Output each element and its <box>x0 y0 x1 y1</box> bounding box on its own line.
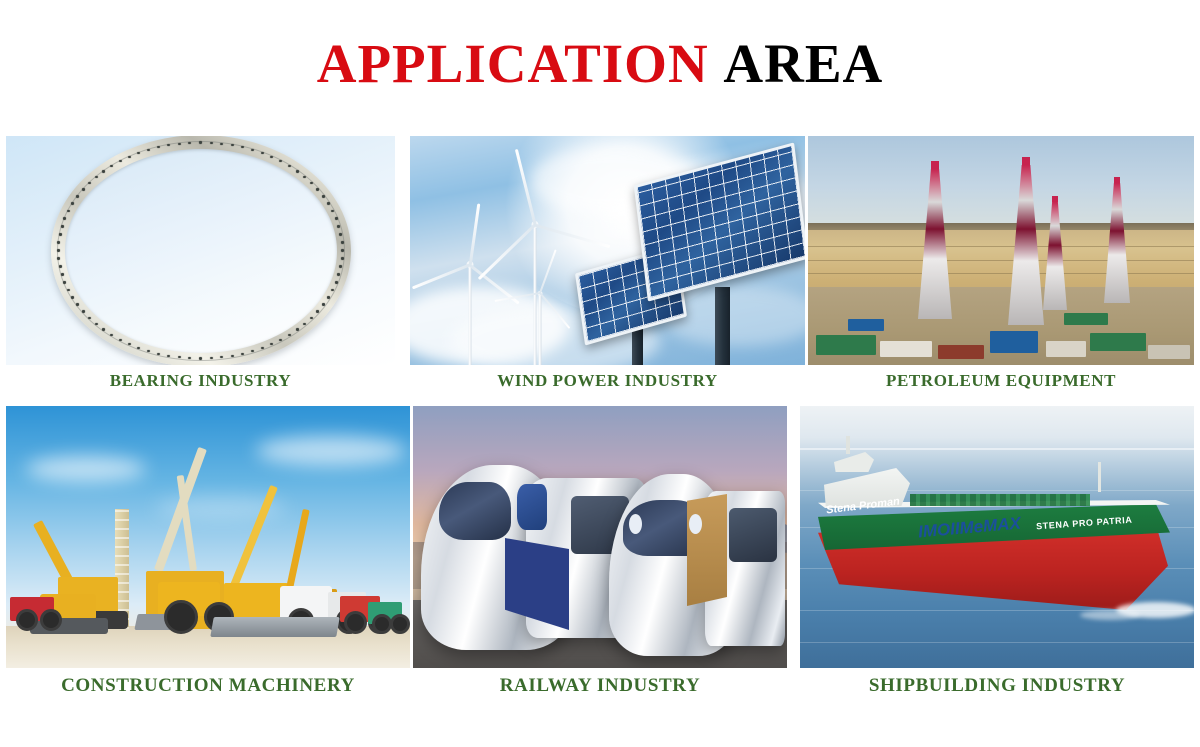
caption-shipbuilding-industry: SHIPBUILDING INDUSTRY <box>800 675 1194 697</box>
bearing-bolt-hole <box>71 202 74 204</box>
bearing-bolt-hole <box>335 217 338 219</box>
ship-deck-piping <box>910 494 1090 506</box>
green-machine <box>366 588 410 634</box>
application-area-page: APPLICATION AREA BEARING INDUSTRY <box>0 0 1200 747</box>
bearing-bolt-hole <box>335 281 338 283</box>
caption-construction-machinery: CONSTRUCTION MACHINERY <box>6 675 410 697</box>
bearing-bolt-hole <box>199 141 202 143</box>
wind-power-image <box>410 136 805 365</box>
dump-truck <box>6 583 76 631</box>
tile-wind-power-industry[interactable] <box>410 136 805 365</box>
bearing-bolt-hole <box>76 303 79 305</box>
site-container <box>880 341 932 357</box>
site-container <box>1148 345 1190 359</box>
high-speed-train-left <box>421 450 636 650</box>
bearing-bolt-hole <box>82 310 85 312</box>
wind-turbine <box>505 245 575 365</box>
tile-construction-machinery[interactable] <box>6 406 410 668</box>
bearing-bolt-hole <box>288 165 291 167</box>
railway-image <box>413 406 787 668</box>
bearing-ring-inner <box>65 149 337 353</box>
drilling-derrick <box>1043 202 1067 310</box>
bearing-bolt-hole <box>322 195 325 197</box>
bearing-bolt-hole <box>63 281 66 283</box>
bearing-bolt-hole <box>220 143 223 145</box>
bearing-bolt-hole <box>241 353 244 355</box>
site-container <box>1064 313 1108 325</box>
drilling-derrick <box>1104 183 1130 303</box>
bearing-bolt-hole <box>95 323 98 325</box>
bearing-bolt-hole <box>61 273 64 275</box>
bearing-bolt-hole <box>210 142 213 144</box>
tree-line <box>808 223 1194 230</box>
high-speed-train-right <box>609 460 784 656</box>
tile-bearing-industry[interactable] <box>6 136 395 365</box>
bulldozer-blade <box>212 597 342 637</box>
bearing-bolt-hole <box>82 188 85 190</box>
sky-background <box>808 136 1194 228</box>
bearing-bolt-hole <box>67 289 70 291</box>
shipbuilding-image: Stena Proman IMOIIMeMAX STENA PRO PATRIA <box>800 406 1194 668</box>
bearing-bolt-hole <box>57 249 60 251</box>
bearing-bolt-hole <box>71 296 74 298</box>
bearing-bolt-hole <box>341 241 344 243</box>
site-container <box>990 331 1038 353</box>
bearing-bolt-hole <box>341 249 344 251</box>
bearing-bolt-hole <box>251 149 254 151</box>
site-container <box>938 345 984 359</box>
page-title-red: APPLICATION <box>317 33 709 94</box>
caption-petroleum-equipment: PETROLEUM EQUIPMENT <box>808 371 1194 391</box>
bearing-bolt-hole <box>76 195 79 197</box>
site-container <box>1090 333 1146 351</box>
construction-image <box>6 406 410 668</box>
site-container <box>1046 341 1086 357</box>
bearing-bolt-hole <box>288 334 291 336</box>
ship-foremast <box>1098 462 1101 492</box>
tile-railway-industry[interactable] <box>413 406 787 668</box>
ship-mast <box>846 436 850 454</box>
bearing-bolt-hole <box>88 317 91 319</box>
bearing-bolt-hole <box>296 170 299 172</box>
caption-railway-industry: RAILWAY INDUSTRY <box>413 675 787 697</box>
bearing-image <box>6 136 395 365</box>
caption-bearing-industry: BEARING INDUSTRY <box>6 371 395 391</box>
bearing-bolt-hole <box>322 303 325 305</box>
bearing-bolt-hole <box>119 339 122 341</box>
bearing-bolt-hole <box>59 265 62 267</box>
bearing-bolt-hole <box>178 143 181 145</box>
site-container <box>816 335 876 355</box>
bearing-bolt-hole <box>157 353 160 355</box>
bearing-bolt-hole <box>231 355 234 357</box>
tile-shipbuilding-industry[interactable]: Stena Proman IMOIIMeMAX STENA PRO PATRIA <box>800 406 1194 668</box>
horizon-line <box>800 448 1194 450</box>
bearing-bolt-hole <box>296 328 299 330</box>
petroleum-image <box>808 136 1194 365</box>
bearing-bolt-hole <box>341 257 344 259</box>
site-container <box>848 319 884 331</box>
page-title: APPLICATION AREA <box>0 36 1200 91</box>
bearing-bolt-hole <box>59 233 62 235</box>
bearing-bolt-hole <box>67 210 70 212</box>
page-title-black: AREA <box>723 33 883 94</box>
bearing-bolt-hole <box>316 310 319 312</box>
tile-petroleum-equipment[interactable] <box>808 136 1194 365</box>
drilling-derrick <box>918 169 952 319</box>
bearing-bolt-hole <box>279 339 282 341</box>
bearing-bolt-hole <box>327 296 330 298</box>
bearing-bolt-hole <box>61 225 64 227</box>
bearing-bolt-hole <box>327 202 330 204</box>
bearing-bolt-hole <box>310 317 313 319</box>
caption-wind-power-industry: WIND POWER INDUSTRY <box>410 371 805 391</box>
bearing-bolt-hole <box>261 347 264 349</box>
solar-panel-pole <box>715 287 730 365</box>
drilling-derrick <box>1008 165 1044 325</box>
bearing-bolt-hole <box>199 357 202 359</box>
